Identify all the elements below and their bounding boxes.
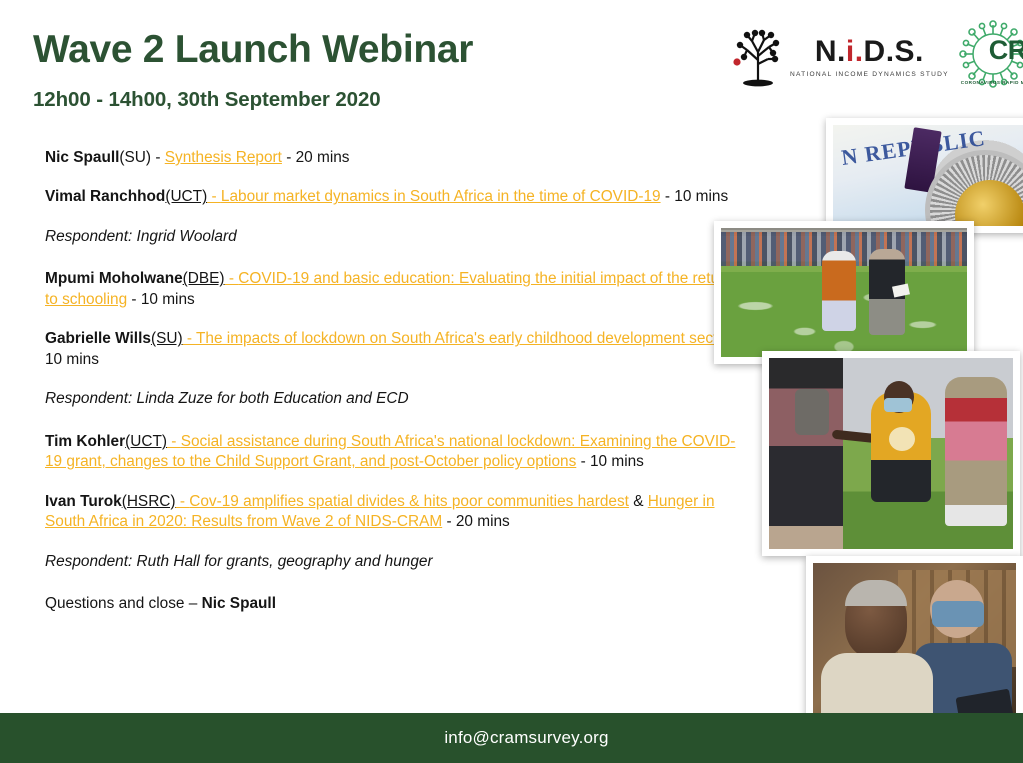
talk-link-labour-market-dynamics[interactable]: Labour market dynamics in South Africa i… — [221, 188, 661, 205]
closing-line: Questions and close – Nic Spaull — [45, 594, 745, 614]
agenda-item-ivan-turok: Ivan Turok(HSRC) - Cov-19 amplifies spat… — [45, 492, 745, 533]
child-face-mask — [884, 398, 912, 412]
speaker-org: (SU) — [151, 330, 183, 347]
page-subtitle: 12h00 - 14h00, 30th September 2020 — [33, 88, 381, 112]
page-title: Wave 2 Launch Webinar — [33, 28, 473, 72]
nids-tagline: NATIONAL INCOME DYNAMICS STUDY — [790, 71, 949, 78]
field-interview-image — [721, 228, 967, 357]
agenda-item-vimal-ranchhod: Vimal Ranchhod(UCT) - Labour market dyna… — [45, 187, 745, 207]
elderly-patient-with-nurse-image — [813, 563, 1016, 737]
speaker-name: Vimal Ranchhod — [45, 188, 165, 205]
nids-logo: N.i.D.S. NATIONAL INCOME DYNAMICS STUDY — [730, 26, 949, 88]
agenda-item-tim-kohler: Tim Kohler(UCT) - Social assistance duri… — [45, 432, 745, 473]
separator: - — [151, 149, 165, 166]
separator: - — [167, 433, 181, 450]
closing-prefix: Questions and close – — [45, 595, 202, 612]
respondent-ingrid-woolard: Respondent: Ingrid Woolard — [45, 227, 745, 247]
talk-duration: - 20 mins — [442, 513, 510, 530]
nids-wordmark: N.i.D.S. NATIONAL INCOME DYNAMICS STUDY — [790, 37, 949, 78]
photo-collage: N REPUBLIC — [700, 118, 1023, 748]
footer-bar: info@cramsurvey.org — [0, 713, 1023, 763]
talk-joiner: & — [629, 493, 648, 510]
speaker-org: (HSRC) — [122, 493, 176, 510]
speaker-name: Mpumi Moholwane — [45, 270, 183, 287]
agenda-list: Nic Spaull(SU) - Synthesis Report - 20 m… — [45, 148, 745, 615]
speaker-name: Tim Kohler — [45, 433, 125, 450]
mother-and-child-image — [769, 358, 1013, 549]
mother-and-child-photo — [762, 351, 1020, 556]
talk-link-lockdown-early-childhood[interactable]: The impacts of lockdown on South Africa'… — [196, 330, 731, 347]
bystander-figure — [945, 377, 1007, 526]
agenda-item-gabrielle-wills: Gabrielle Wills(SU) - The impacts of loc… — [45, 329, 745, 370]
logo-bar: N.i.D.S. NATIONAL INCOME DYNAMICS STUDY — [730, 14, 1020, 100]
shoulder-bag — [795, 389, 829, 435]
respondent-linda-zuze: Respondent: Linda Zuze for both Educatio… — [45, 389, 745, 409]
closing-speaker: Nic Spaull — [202, 595, 276, 612]
hoodie-print — [889, 427, 915, 451]
talk-duration: - 10 mins — [576, 453, 644, 470]
separator: - — [207, 188, 221, 205]
speaker-name: Gabrielle Wills — [45, 330, 151, 347]
nurse-face-mask — [932, 601, 984, 627]
speaker-org: (SU) — [119, 149, 151, 166]
banknote-and-coin-photo: N REPUBLIC — [826, 118, 1023, 233]
cram-wordmark: CRAM — [989, 37, 1023, 64]
agenda-item-mpumi-moholwane: Mpumi Moholwane(DBE) - COVID-19 and basi… — [45, 269, 745, 310]
speaker-org: (UCT) — [165, 188, 207, 205]
nids-tree-icon — [730, 26, 786, 88]
banknote-and-coin-image: N REPUBLIC — [833, 125, 1023, 226]
nids-letters: N.i.D.S. — [815, 37, 924, 67]
talk-link-cov19-spatial-divides[interactable]: Cov-19 amplifies spatial divides & hits … — [189, 493, 629, 510]
speaker-org: (DBE) — [183, 270, 225, 287]
respondent-figure — [822, 251, 856, 331]
talk-duration: - 10 mins — [127, 291, 195, 308]
mother-figure — [769, 358, 843, 549]
respondent-ruth-hall: Respondent: Ruth Hall for grants, geogra… — [45, 552, 745, 572]
separator: - — [225, 270, 239, 287]
cram-tagline: CORONAVIRUS RAPID MOBILE SURVEY 2020 — [961, 80, 1023, 85]
speaker-name: Ivan Turok — [45, 493, 122, 510]
agenda-item-nic-spaull: Nic Spaull(SU) - Synthesis Report - 20 m… — [45, 148, 745, 168]
cram-logo: CRAM CORONAVIRUS RAPID MOBILE SURVEY 202… — [957, 18, 1020, 96]
separator: - — [183, 330, 196, 347]
talk-link-synthesis-report[interactable]: Synthesis Report — [165, 149, 282, 166]
contact-email[interactable]: info@cramsurvey.org — [0, 713, 1023, 763]
field-interview-photo — [714, 221, 974, 364]
separator: - — [176, 493, 190, 510]
talk-duration: - 20 mins — [282, 149, 350, 166]
speaker-org: (UCT) — [125, 433, 167, 450]
speaker-name: Nic Spaull — [45, 149, 119, 166]
